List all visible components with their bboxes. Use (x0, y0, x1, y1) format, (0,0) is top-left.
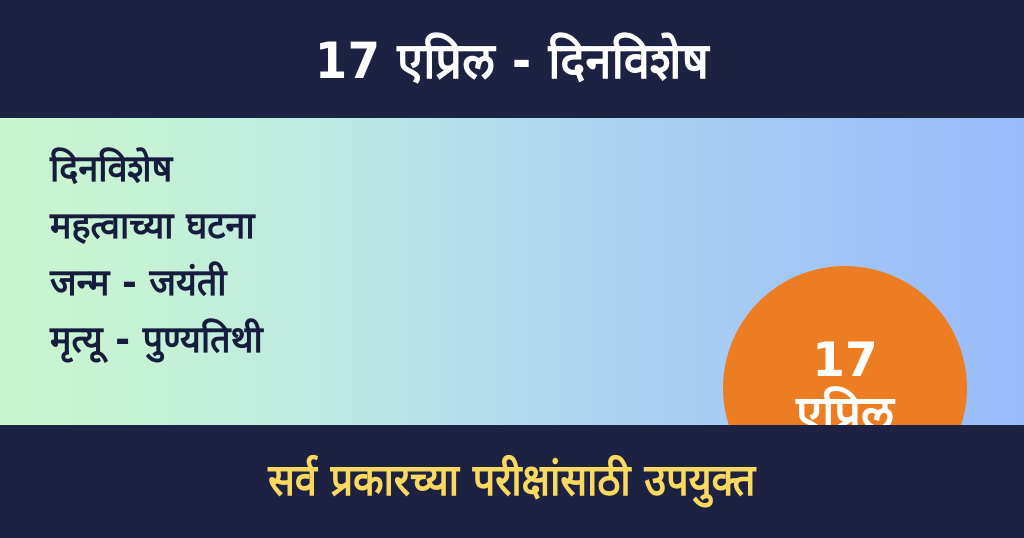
list-item: जन्म - जयंती (50, 254, 263, 311)
header-bar: 17 एप्रिल - दिनविशेष (0, 0, 1024, 118)
page-title: 17 एप्रिल - दिनविशेष (315, 32, 709, 86)
date-badge: 17 एप्रिल (723, 266, 967, 425)
list-item: मृत्यू - पुण्यतिथी (50, 311, 263, 368)
content-panel: दिनविशेष महत्वाच्या घटना जन्म - जयंती मृ… (0, 118, 1024, 425)
footer-tagline: सर्व प्रकारच्या परीक्षांसाठी उपयुक्त (268, 459, 755, 505)
topic-list: दिनविशेष महत्वाच्या घटना जन्म - जयंती मृ… (50, 140, 269, 368)
date-badge-month: एप्रिल (796, 388, 894, 425)
date-badge-day: 17 (812, 337, 877, 384)
list-item: महत्वाच्या घटना (50, 197, 263, 254)
footer-bar: सर्व प्रकारच्या परीक्षांसाठी उपयुक्त (0, 425, 1024, 538)
list-item: दिनविशेष (50, 140, 263, 197)
dinvishesh-poster: 17 एप्रिल - दिनविशेष दिनविशेष महत्वाच्या… (0, 0, 1024, 538)
